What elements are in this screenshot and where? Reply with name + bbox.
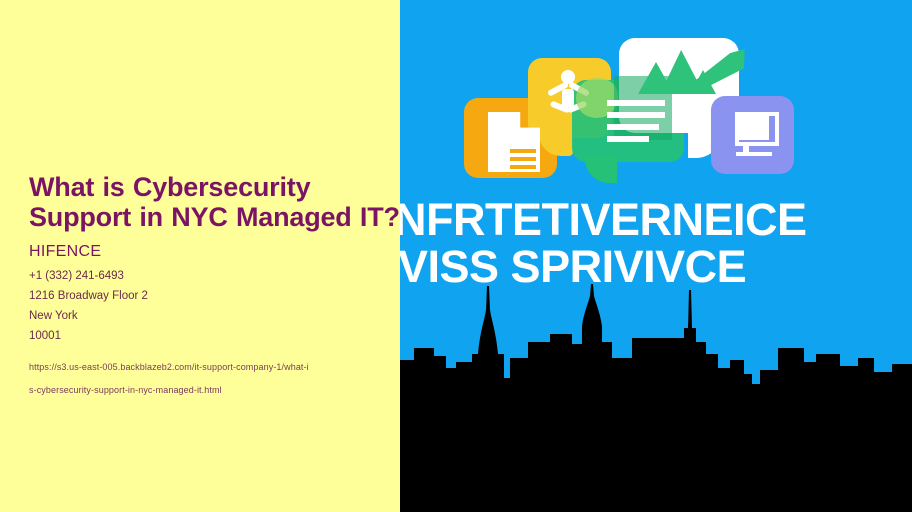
source-url[interactable]: https://s3.us-east-005.backblazeb2.com/i… bbox=[29, 356, 404, 402]
overlay-heading-line-2: VISS SPRIVIVCE bbox=[400, 243, 912, 290]
contact-street: 1216 Broadway Floor 2 bbox=[29, 286, 404, 306]
list-row bbox=[607, 124, 659, 130]
page-root: What is Cybersecurity Support in NYC Man… bbox=[0, 0, 912, 512]
right-graphic-panel: NFRTETIVERNEICE VISS SPRIVIVCE bbox=[400, 0, 912, 512]
source-url-line-2[interactable]: s-cybersecurity-support-in-nyc-managed-i… bbox=[29, 379, 404, 402]
source-url-line-1[interactable]: https://s3.us-east-005.backblazeb2.com/i… bbox=[29, 356, 404, 379]
left-content-block: What is Cybersecurity Support in NYC Man… bbox=[29, 172, 404, 402]
document-text-line bbox=[510, 149, 536, 153]
overlay-heading: NFRTETIVERNEICE VISS SPRIVIVCE bbox=[400, 196, 912, 290]
person-body bbox=[562, 89, 574, 107]
list-row bbox=[607, 136, 649, 142]
overlay-heading-line-1: NFRTETIVERNEICE bbox=[400, 196, 912, 243]
document-text-line bbox=[510, 157, 536, 161]
monitor-base bbox=[736, 152, 772, 156]
document-text-line bbox=[510, 165, 536, 169]
monitor-icon bbox=[735, 112, 783, 158]
brand-name: HIFENCE bbox=[29, 242, 404, 262]
left-info-panel: What is Cybersecurity Support in NYC Man… bbox=[0, 0, 400, 512]
list-row bbox=[607, 100, 665, 106]
city-skyline-silhouette bbox=[400, 282, 912, 512]
illustration-cards bbox=[400, 0, 912, 210]
list-icon bbox=[607, 92, 669, 144]
document-page-shape bbox=[488, 112, 540, 172]
contact-zip: 10001 bbox=[29, 326, 404, 346]
contact-phone[interactable]: +1 (332) 241-6493 bbox=[29, 266, 404, 286]
list-row bbox=[607, 112, 665, 118]
page-title: What is Cybersecurity Support in NYC Man… bbox=[29, 172, 404, 232]
document-icon bbox=[488, 112, 540, 172]
contact-city: New York bbox=[29, 306, 404, 326]
monitor-screen bbox=[739, 116, 769, 140]
